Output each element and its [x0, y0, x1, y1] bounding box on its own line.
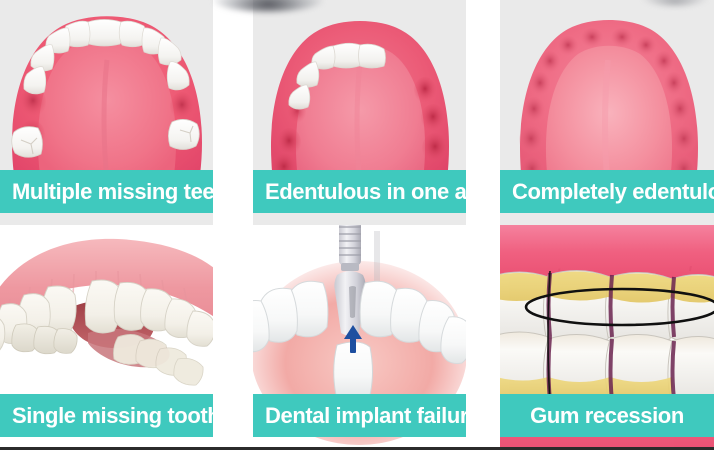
panel-completely-edentulous[interactable]: Completely edentulous: [500, 0, 714, 225]
panel-grid: Multiple missing teeth: [0, 0, 714, 450]
panel-dental-implant-failure[interactable]: Dental implant failure: [253, 225, 466, 450]
panel-label: Gum recession: [500, 405, 714, 427]
label-bar-dental-implant-failure: Dental implant failure: [253, 394, 466, 437]
gutter-row2-a: [213, 225, 253, 450]
label-bar-single-missing-tooth: Single missing tooth: [0, 394, 213, 437]
label-bar-gum-recession: Gum recession: [500, 394, 714, 437]
panel-gum-recession[interactable]: Gum recession: [500, 225, 714, 450]
gutter-row2-b: [466, 225, 500, 450]
row1-left-group: Multiple missing teeth: [0, 0, 466, 225]
gutter-row1-a: [213, 0, 253, 225]
label-bar-completely-edentulous: Completely edentulous: [500, 170, 714, 213]
panel-multiple-missing-teeth[interactable]: Multiple missing teeth: [0, 0, 213, 225]
row2-left-group: Single missing tooth: [0, 225, 466, 450]
panel-single-missing-tooth[interactable]: Single missing tooth: [0, 225, 213, 450]
panel-edentulous-one-arch[interactable]: Edentulous in one arch: [253, 0, 466, 225]
panel-label: Edentulous in one arch: [253, 181, 466, 203]
panel-label: Single missing tooth: [0, 405, 213, 427]
label-bar-multiple-missing-teeth: Multiple missing teeth: [0, 170, 213, 213]
label-bar-edentulous-one-arch: Edentulous in one arch: [253, 170, 466, 213]
dental-conditions-figure: Multiple missing teeth: [0, 0, 714, 450]
panel-label: Completely edentulous: [500, 181, 714, 203]
panel-label: Dental implant failure: [253, 405, 466, 427]
panel-label: Multiple missing teeth: [0, 181, 213, 203]
gutter-row1-b: [466, 0, 500, 225]
